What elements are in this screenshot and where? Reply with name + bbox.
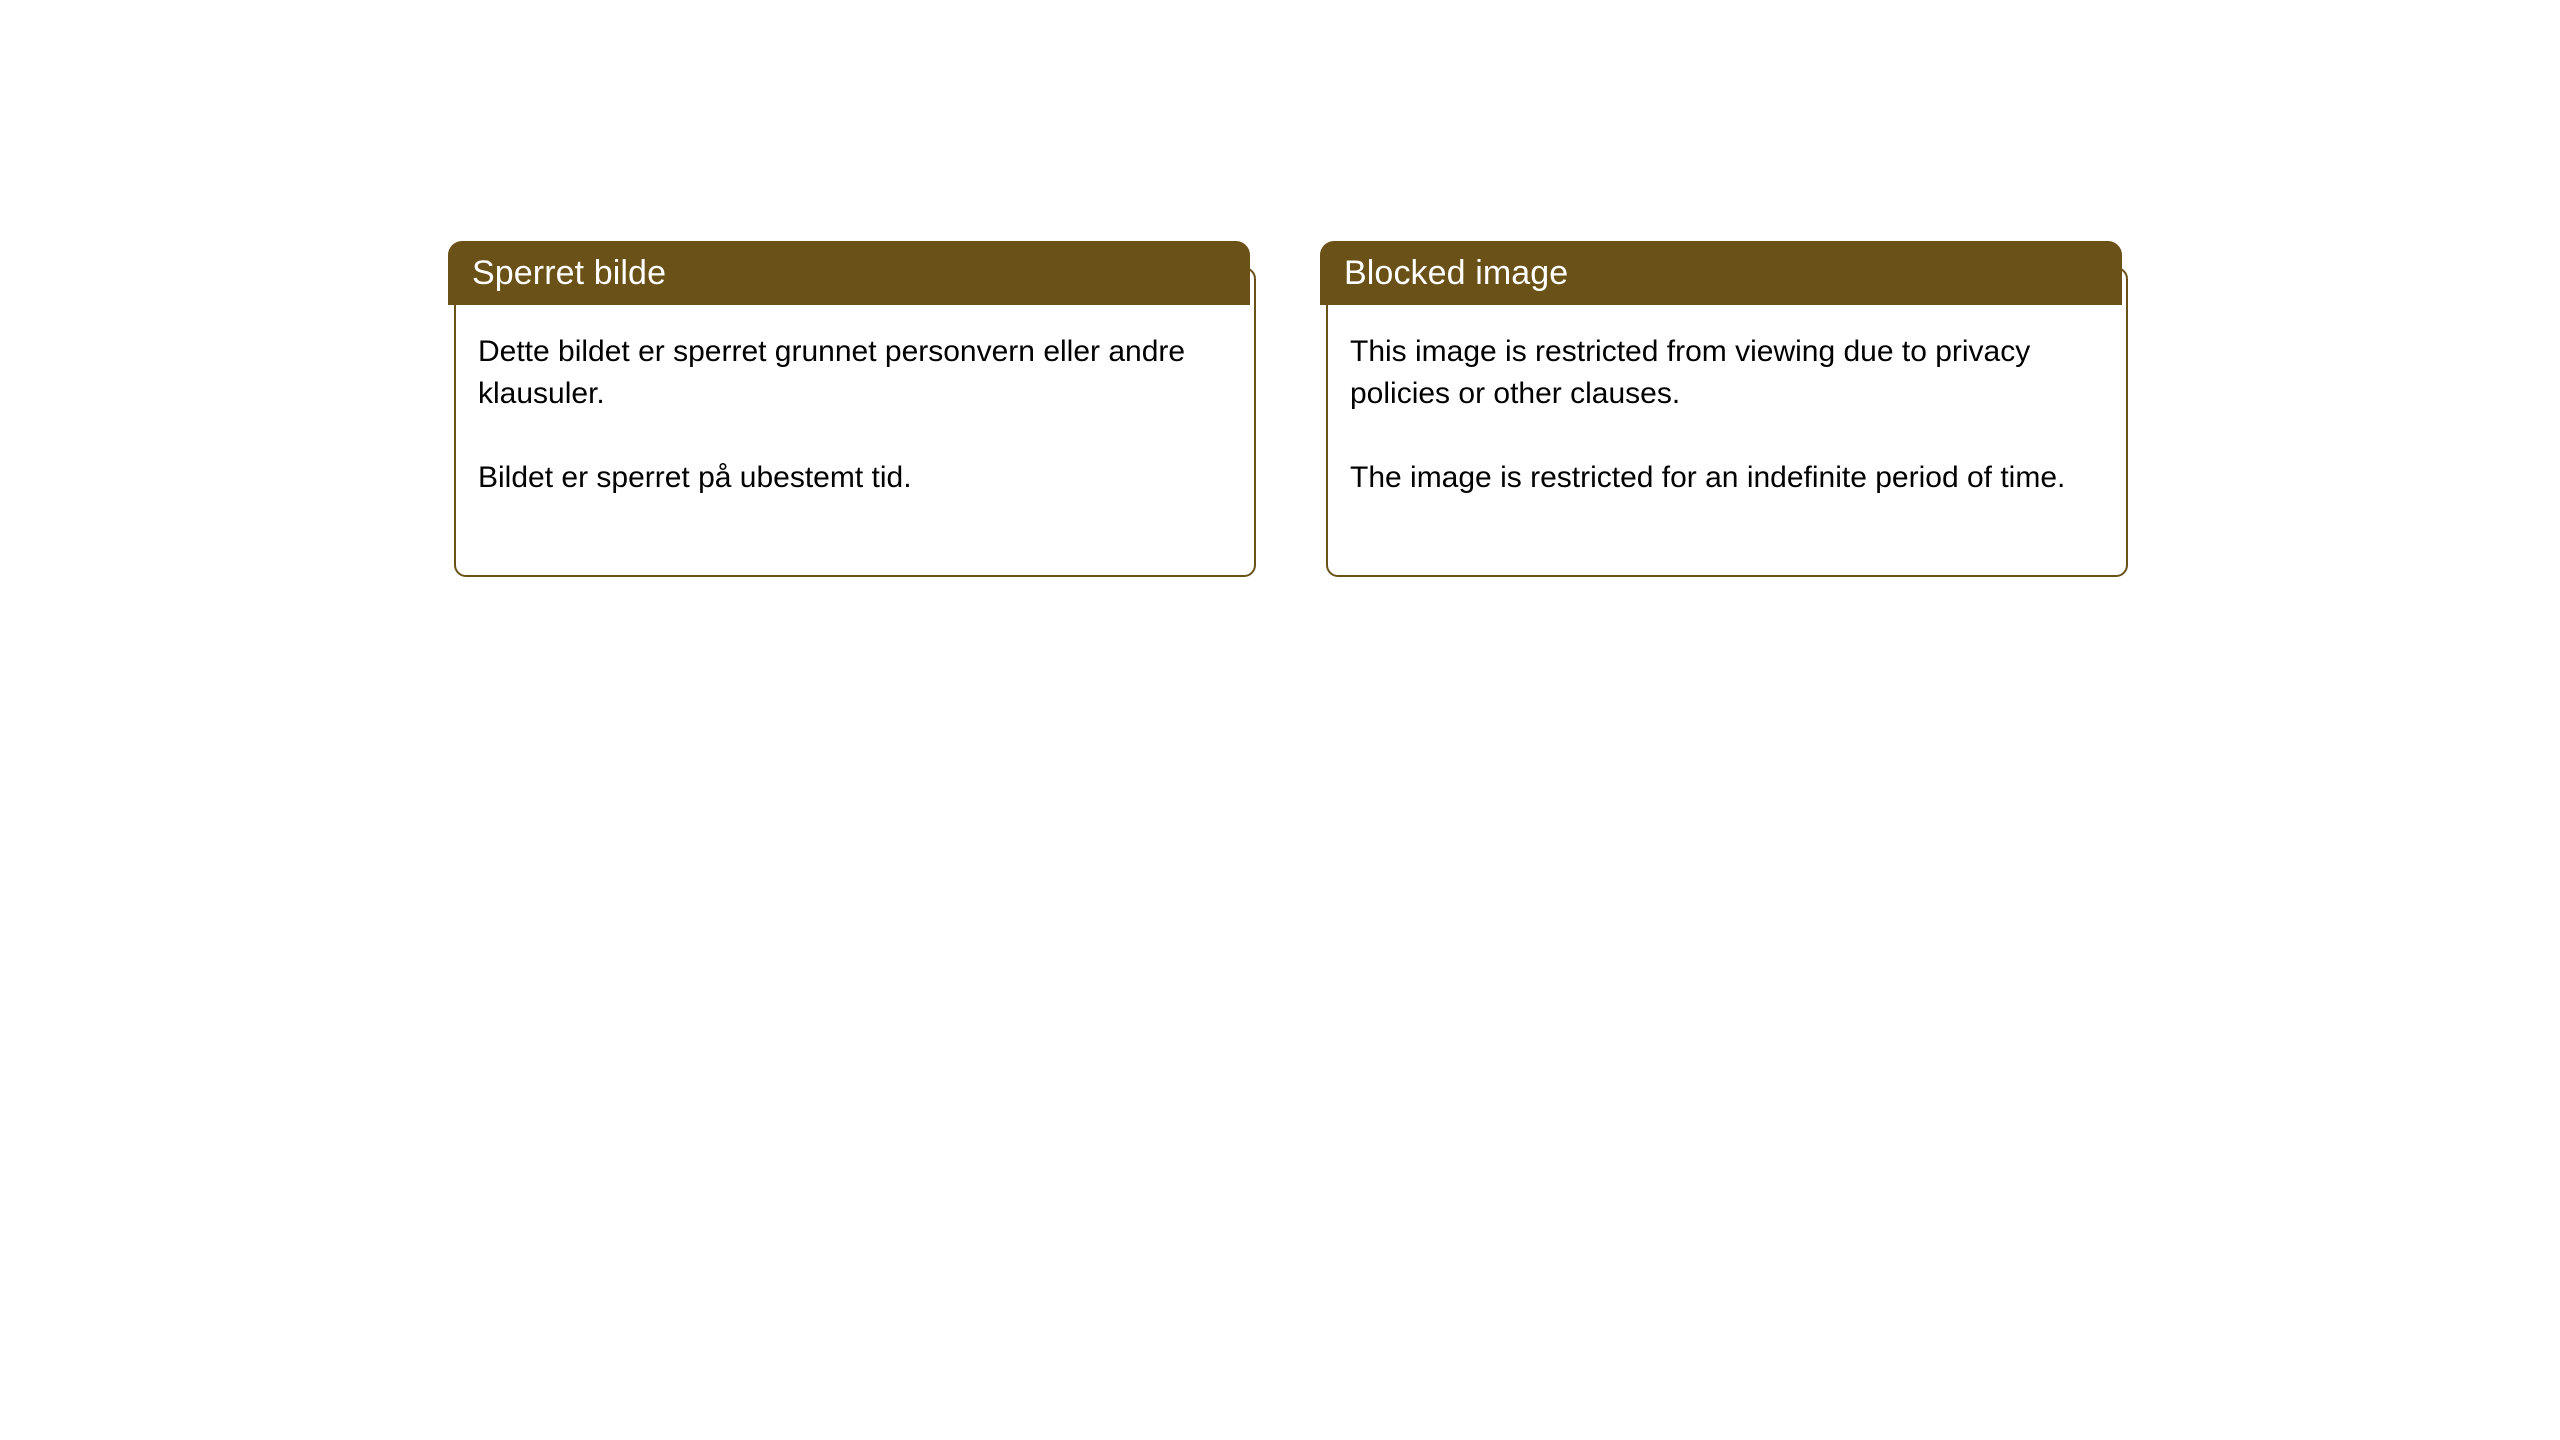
page-root: Sperret bilde Dette bildet er sperret gr… [0, 0, 2560, 1440]
card-paragraph: The image is restricted for an indefinit… [1350, 457, 2104, 499]
card-header: Sperret bilde [448, 241, 1250, 305]
card-content: This image is restricted from viewing du… [1326, 331, 2126, 575]
card-paragraph: Dette bildet er sperret grunnet personve… [478, 331, 1232, 415]
card-title: Blocked image [1320, 254, 1568, 292]
card-paragraph: Bildet er sperret på ubestemt tid. [478, 457, 1232, 499]
card-paragraph: This image is restricted from viewing du… [1350, 331, 2104, 415]
blocked-image-card-english: Blocked image This image is restricted f… [1320, 241, 2128, 577]
card-header: Blocked image [1320, 241, 2122, 305]
blocked-image-card-norwegian: Sperret bilde Dette bildet er sperret gr… [448, 241, 1256, 577]
card-content: Dette bildet er sperret grunnet personve… [454, 331, 1254, 575]
card-title: Sperret bilde [448, 254, 666, 292]
